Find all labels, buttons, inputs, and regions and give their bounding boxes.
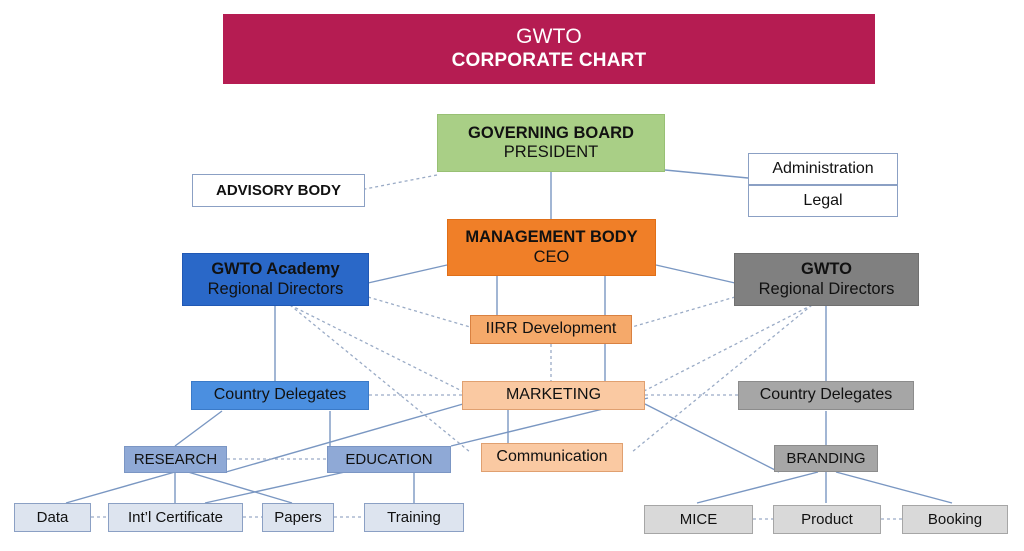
product-title: Product bbox=[801, 511, 853, 529]
edge-academy-marketing bbox=[290, 305, 462, 391]
edge-branding-mice bbox=[697, 472, 818, 503]
node-data[interactable]: Data bbox=[14, 503, 91, 532]
edge-gwtoright-marketing bbox=[644, 305, 812, 391]
booking-title: Booking bbox=[928, 511, 982, 529]
advisory-body-title: ADVISORY BODY bbox=[216, 182, 341, 200]
gwto-academy-title: GWTO Academy bbox=[211, 260, 339, 279]
edge-board-advisory bbox=[365, 175, 437, 189]
edge-gwtoright-communication bbox=[632, 305, 812, 452]
training-title: Training bbox=[387, 509, 441, 527]
edge-management-academy bbox=[368, 265, 447, 283]
iirr-title: IIRR Development bbox=[486, 320, 617, 339]
papers-title: Papers bbox=[274, 509, 322, 527]
node-papers[interactable]: Papers bbox=[262, 503, 334, 532]
node-training[interactable]: Training bbox=[364, 503, 464, 532]
edge-marketing-branding bbox=[645, 404, 779, 472]
edge-education-certificate bbox=[205, 472, 345, 503]
node-intl-certificate[interactable]: Int’l Certificate bbox=[108, 503, 243, 532]
education-title: EDUCATION bbox=[345, 451, 432, 469]
node-research[interactable]: RESEARCH bbox=[124, 446, 227, 473]
node-legal[interactable]: Legal bbox=[748, 185, 898, 217]
edge-management-gwto-right bbox=[656, 265, 735, 283]
communication-title: Communication bbox=[496, 448, 607, 467]
legal-title: Legal bbox=[803, 192, 842, 211]
governing-board-subtitle: PRESIDENT bbox=[504, 143, 598, 162]
node-booking[interactable]: Booking bbox=[902, 505, 1008, 534]
edge-academy-communication bbox=[290, 305, 470, 452]
node-branding[interactable]: BRANDING bbox=[774, 445, 878, 472]
node-iirr-development[interactable]: IIRR Development bbox=[470, 315, 632, 344]
banner-line-1: GWTO bbox=[516, 25, 582, 50]
node-mice[interactable]: MICE bbox=[644, 505, 753, 534]
branding-title: BRANDING bbox=[786, 450, 865, 468]
edge-academy-iirr bbox=[368, 297, 470, 327]
node-management-body[interactable]: MANAGEMENT BODY CEO bbox=[447, 219, 656, 276]
country-delegates-right-title: Country Delegates bbox=[760, 386, 893, 405]
edge-research-papers bbox=[188, 472, 292, 503]
node-governing-board[interactable]: GOVERNING BOARD PRESIDENT bbox=[437, 114, 665, 172]
gwto-academy-subtitle: Regional Directors bbox=[208, 280, 344, 299]
edge-board-administration bbox=[665, 170, 748, 178]
marketing-title: MARKETING bbox=[506, 386, 601, 405]
research-title: RESEARCH bbox=[134, 451, 217, 469]
edge-gwtoright-iirr bbox=[632, 297, 735, 327]
gwto-regional-subtitle: Regional Directors bbox=[759, 280, 895, 299]
data-title: Data bbox=[37, 509, 69, 527]
edge-research-data bbox=[66, 472, 175, 503]
node-advisory-body[interactable]: ADVISORY BODY bbox=[192, 174, 365, 207]
edge-delegatesleft-research bbox=[175, 411, 222, 446]
management-body-title: MANAGEMENT BODY bbox=[465, 228, 637, 247]
management-body-subtitle: CEO bbox=[534, 248, 570, 267]
node-product[interactable]: Product bbox=[773, 505, 881, 534]
edge-branding-booking bbox=[836, 472, 952, 503]
banner-line-2: CORPORATE CHART bbox=[452, 50, 647, 72]
mice-title: MICE bbox=[680, 511, 718, 529]
country-delegates-left-title: Country Delegates bbox=[214, 386, 347, 405]
node-marketing[interactable]: MARKETING bbox=[462, 381, 645, 410]
node-education[interactable]: EDUCATION bbox=[327, 446, 451, 473]
node-gwto-academy[interactable]: GWTO Academy Regional Directors bbox=[182, 253, 369, 306]
node-administration[interactable]: Administration bbox=[748, 153, 898, 185]
administration-title: Administration bbox=[772, 160, 873, 179]
node-country-delegates-left[interactable]: Country Delegates bbox=[191, 381, 369, 410]
node-country-delegates-right[interactable]: Country Delegates bbox=[738, 381, 914, 410]
gwto-regional-title: GWTO bbox=[801, 260, 852, 279]
governing-board-title: GOVERNING BOARD bbox=[468, 124, 634, 143]
intl-certificate-title: Int’l Certificate bbox=[128, 509, 223, 527]
node-gwto-regional[interactable]: GWTO Regional Directors bbox=[734, 253, 919, 306]
chart-title-banner: GWTO CORPORATE CHART bbox=[223, 14, 875, 84]
org-chart-canvas: GWTO CORPORATE CHART GOVERNING BOARD PRE… bbox=[0, 0, 1024, 551]
node-communication[interactable]: Communication bbox=[481, 443, 623, 472]
